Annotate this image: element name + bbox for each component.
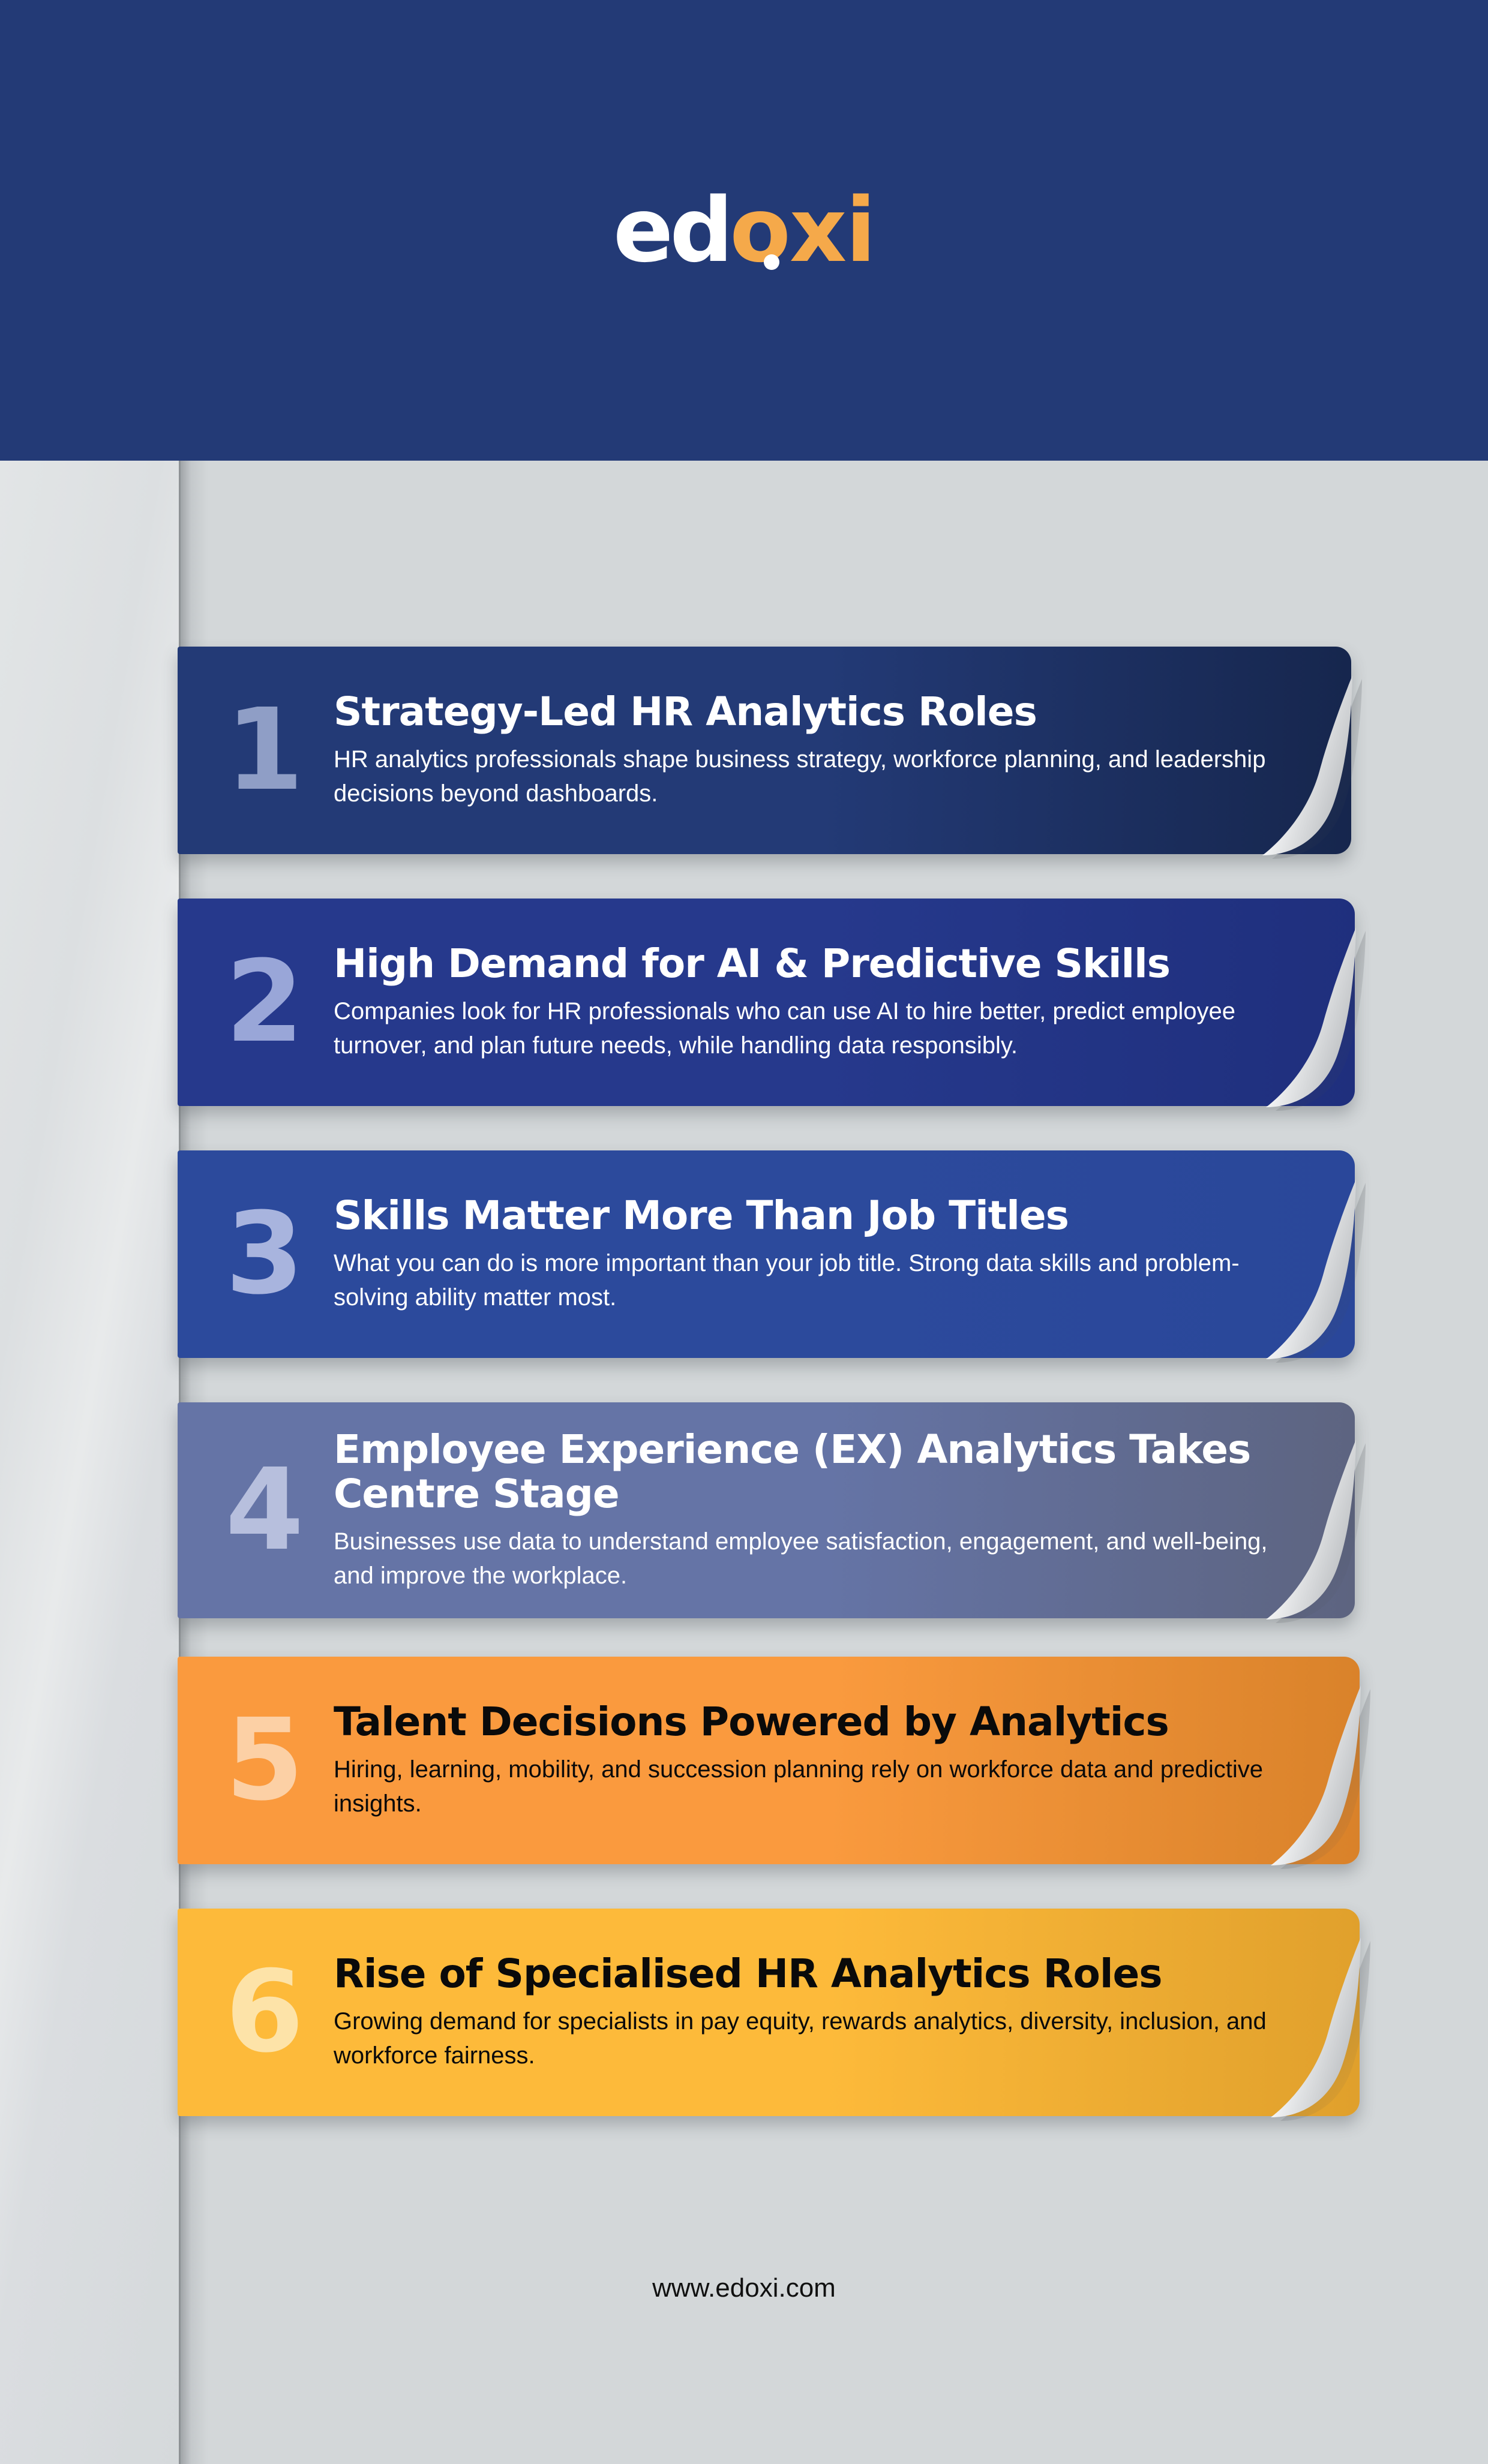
banner-number-2: 2 bbox=[196, 946, 334, 1059]
banner-number-3: 3 bbox=[196, 1198, 334, 1311]
banner-item-3[interactable]: 3Skills Matter More Than Job TitlesWhat … bbox=[178, 1150, 1355, 1358]
banner-content: 2High Demand for AI & Predictive SkillsC… bbox=[178, 899, 1355, 1106]
banner-copy: Strategy-Led HR Analytics RolesHR analyt… bbox=[334, 690, 1351, 811]
banner-description: Hiring, learning, mobility, and successi… bbox=[334, 1753, 1288, 1821]
banner-description: Businesses use data to understand employ… bbox=[334, 1525, 1283, 1593]
banner-item-6[interactable]: 6Rise of Specialised HR Analytics RolesG… bbox=[178, 1909, 1360, 2116]
banner-number-5: 5 bbox=[196, 1704, 334, 1817]
banner-description: Companies look for HR professionals who … bbox=[334, 994, 1283, 1063]
banner-number-1: 1 bbox=[196, 694, 334, 807]
banner-title: Employee Experience (EX) Analytics Takes… bbox=[334, 1428, 1283, 1516]
banner-title: Skills Matter More Than Job Titles bbox=[334, 1194, 1283, 1238]
banner-copy: High Demand for AI & Predictive SkillsCo… bbox=[334, 942, 1355, 1063]
banner-description: HR analytics professionals shape busines… bbox=[334, 743, 1279, 811]
banner-number-6: 6 bbox=[196, 1956, 334, 2069]
footer-website-url[interactable]: www.edoxi.com bbox=[0, 2273, 1488, 2303]
banner-copy: Talent Decisions Powered by AnalyticsHir… bbox=[334, 1700, 1360, 1821]
banner-content: 6Rise of Specialised HR Analytics RolesG… bbox=[178, 1909, 1360, 2116]
banner-content: 4Employee Experience (EX) Analytics Take… bbox=[178, 1402, 1355, 1618]
banner-item-1[interactable]: 1Strategy-Led HR Analytics RolesHR analy… bbox=[178, 647, 1351, 854]
banner-title: Rise of Specialised HR Analytics Roles bbox=[334, 1952, 1288, 1996]
banner-list: 1Strategy-Led HR Analytics RolesHR analy… bbox=[0, 0, 1488, 2464]
banner-number-4: 4 bbox=[196, 1454, 334, 1567]
banner-content: 1Strategy-Led HR Analytics RolesHR analy… bbox=[178, 647, 1351, 854]
banner-title: Strategy-Led HR Analytics Roles bbox=[334, 690, 1279, 734]
banner-item-2[interactable]: 2High Demand for AI & Predictive SkillsC… bbox=[178, 899, 1355, 1106]
banner-copy: Employee Experience (EX) Analytics Takes… bbox=[334, 1428, 1355, 1592]
banner-content: 3Skills Matter More Than Job TitlesWhat … bbox=[178, 1150, 1355, 1358]
banner-copy: Rise of Specialised HR Analytics RolesGr… bbox=[334, 1952, 1360, 2073]
banner-description: Growing demand for specialists in pay eq… bbox=[334, 2005, 1288, 2073]
banner-title: Talent Decisions Powered by Analytics bbox=[334, 1700, 1288, 1744]
banner-description: What you can do is more important than y… bbox=[334, 1246, 1283, 1315]
banner-item-5[interactable]: 5Talent Decisions Powered by AnalyticsHi… bbox=[178, 1657, 1360, 1864]
banner-content: 5Talent Decisions Powered by AnalyticsHi… bbox=[178, 1657, 1360, 1864]
banner-copy: Skills Matter More Than Job TitlesWhat y… bbox=[334, 1194, 1355, 1315]
banner-item-4[interactable]: 4Employee Experience (EX) Analytics Take… bbox=[178, 1402, 1355, 1618]
infographic-page: ed oxi 1Strategy-Led HR Analytics RolesH… bbox=[0, 0, 1488, 2464]
banner-title: High Demand for AI & Predictive Skills bbox=[334, 942, 1283, 986]
